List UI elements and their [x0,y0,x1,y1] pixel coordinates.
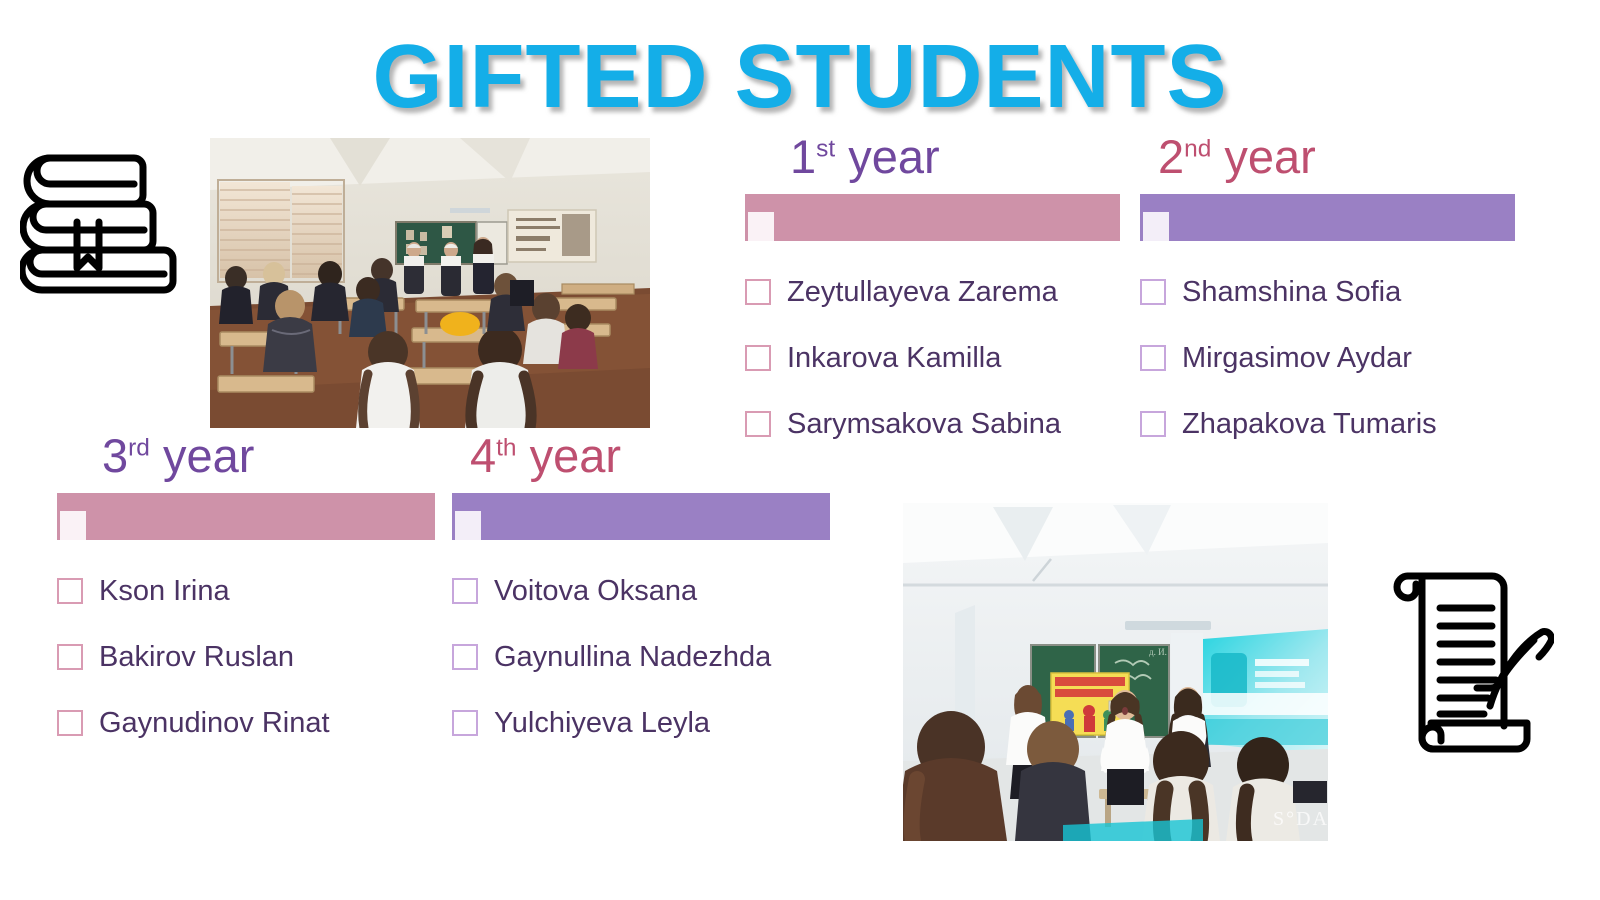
student-name: Voitova Oksana [494,575,697,608]
year-4-bar [452,493,830,540]
year-1-ordinal-number: 1 [790,130,816,183]
year-2-ordinal-suffix: nd [1184,135,1211,162]
student-name: Kson Irina [99,575,230,608]
checkbox-icon[interactable] [1140,411,1166,437]
list-item[interactable]: Gaynullina Nadezhda [452,636,830,678]
student-name: Zhapakova Tumaris [1182,408,1437,441]
year-2-student-list: Shamshina Sofia Mirgasimov Aydar Zhapako… [1140,271,1515,445]
student-name: Mirgasimov Aydar [1182,342,1412,375]
year-3-ordinal-suffix: rd [128,434,150,461]
year-1-bar [745,194,1120,241]
checkbox-icon[interactable] [745,345,771,371]
list-item[interactable]: Kson Irina [57,570,435,612]
year-block-2: 2nd year Shamshina Sofia Mirgasimov Ayda… [1140,133,1515,445]
year-4-label-word: year [530,429,621,482]
year-3-student-list: Kson Irina Bakirov Ruslan Gaynudinov Rin… [57,570,435,744]
year-block-1: 1st year Zeytullayeva Zarema Inkarova Ka… [745,133,1120,445]
year-3-ordinal-number: 3 [102,429,128,482]
year-3-bar [57,493,435,540]
year-block-4: 4th year Voitova Oksana Gaynullina Nadez… [452,432,830,744]
list-item[interactable]: Shamshina Sofia [1140,271,1515,313]
svg-text:S°DA: S°DA [1273,808,1328,830]
scroll-quill-icon [1374,556,1554,766]
year-2-ordinal-number: 2 [1158,130,1184,183]
student-name: Bakirov Ruslan [99,641,294,674]
year-4-student-list: Voitova Oksana Gaynullina Nadezhda Yulch… [452,570,830,744]
year-1-student-list: Zeytullayeva Zarema Inkarova Kamilla Sar… [745,271,1120,445]
checkbox-icon[interactable] [452,644,478,670]
year-4-ordinal-suffix: th [496,434,516,461]
student-name: Inkarova Kamilla [787,342,1001,375]
list-item[interactable]: Gaynudinov Rinat [57,702,435,744]
list-item[interactable]: Mirgasimov Aydar [1140,337,1515,379]
list-item[interactable]: Zeytullayeva Zarema [745,271,1120,313]
year-2-label-word: year [1224,130,1315,183]
year-3-bar-chip [60,511,86,540]
student-name: Zeytullayeva Zarema [787,276,1058,309]
checkbox-icon[interactable] [57,644,83,670]
list-item[interactable]: Inkarova Kamilla [745,337,1120,379]
year-block-3: 3rd year Kson Irina Bakirov Ruslan Gaynu… [57,432,435,744]
student-name: Gaynudinov Rinat [99,707,330,740]
classroom-presentation-photo [210,138,650,428]
classroom-anticorruption-photo: д. И. [903,503,1328,841]
year-1-label-word: year [848,130,939,183]
student-name: Shamshina Sofia [1182,276,1401,309]
year-3-heading: 3rd year [57,432,435,479]
year-2-bar [1140,194,1515,241]
year-4-heading: 4th year [452,432,830,479]
year-1-ordinal-suffix: st [816,135,835,162]
list-item[interactable]: Voitova Oksana [452,570,830,612]
list-item[interactable]: Zhapakova Tumaris [1140,403,1515,445]
year-3-label-word: year [163,429,254,482]
slide-canvas: GIFTED STUDENTS [0,0,1600,900]
checkbox-icon[interactable] [57,578,83,604]
checkbox-icon[interactable] [452,578,478,604]
list-item[interactable]: Yulchiyeva Leyla [452,702,830,744]
year-4-bar-chip [455,511,481,540]
year-4-ordinal-number: 4 [470,429,496,482]
checkbox-icon[interactable] [745,279,771,305]
page-title: GIFTED STUDENTS [0,26,1600,129]
year-2-bar-chip [1143,212,1169,241]
checkbox-icon[interactable] [1140,279,1166,305]
student-name: Gaynullina Nadezhda [494,641,771,674]
year-1-heading: 1st year [745,133,1120,180]
checkbox-icon[interactable] [1140,345,1166,371]
svg-text:д. И.: д. И. [1149,647,1167,657]
year-2-heading: 2nd year [1140,133,1515,180]
checkbox-icon[interactable] [452,710,478,736]
year-1-bar-chip [748,212,774,241]
student-name: Yulchiyeva Leyla [494,707,710,740]
checkbox-icon[interactable] [57,710,83,736]
list-item[interactable]: Bakirov Ruslan [57,636,435,678]
books-stack-icon [20,134,192,304]
